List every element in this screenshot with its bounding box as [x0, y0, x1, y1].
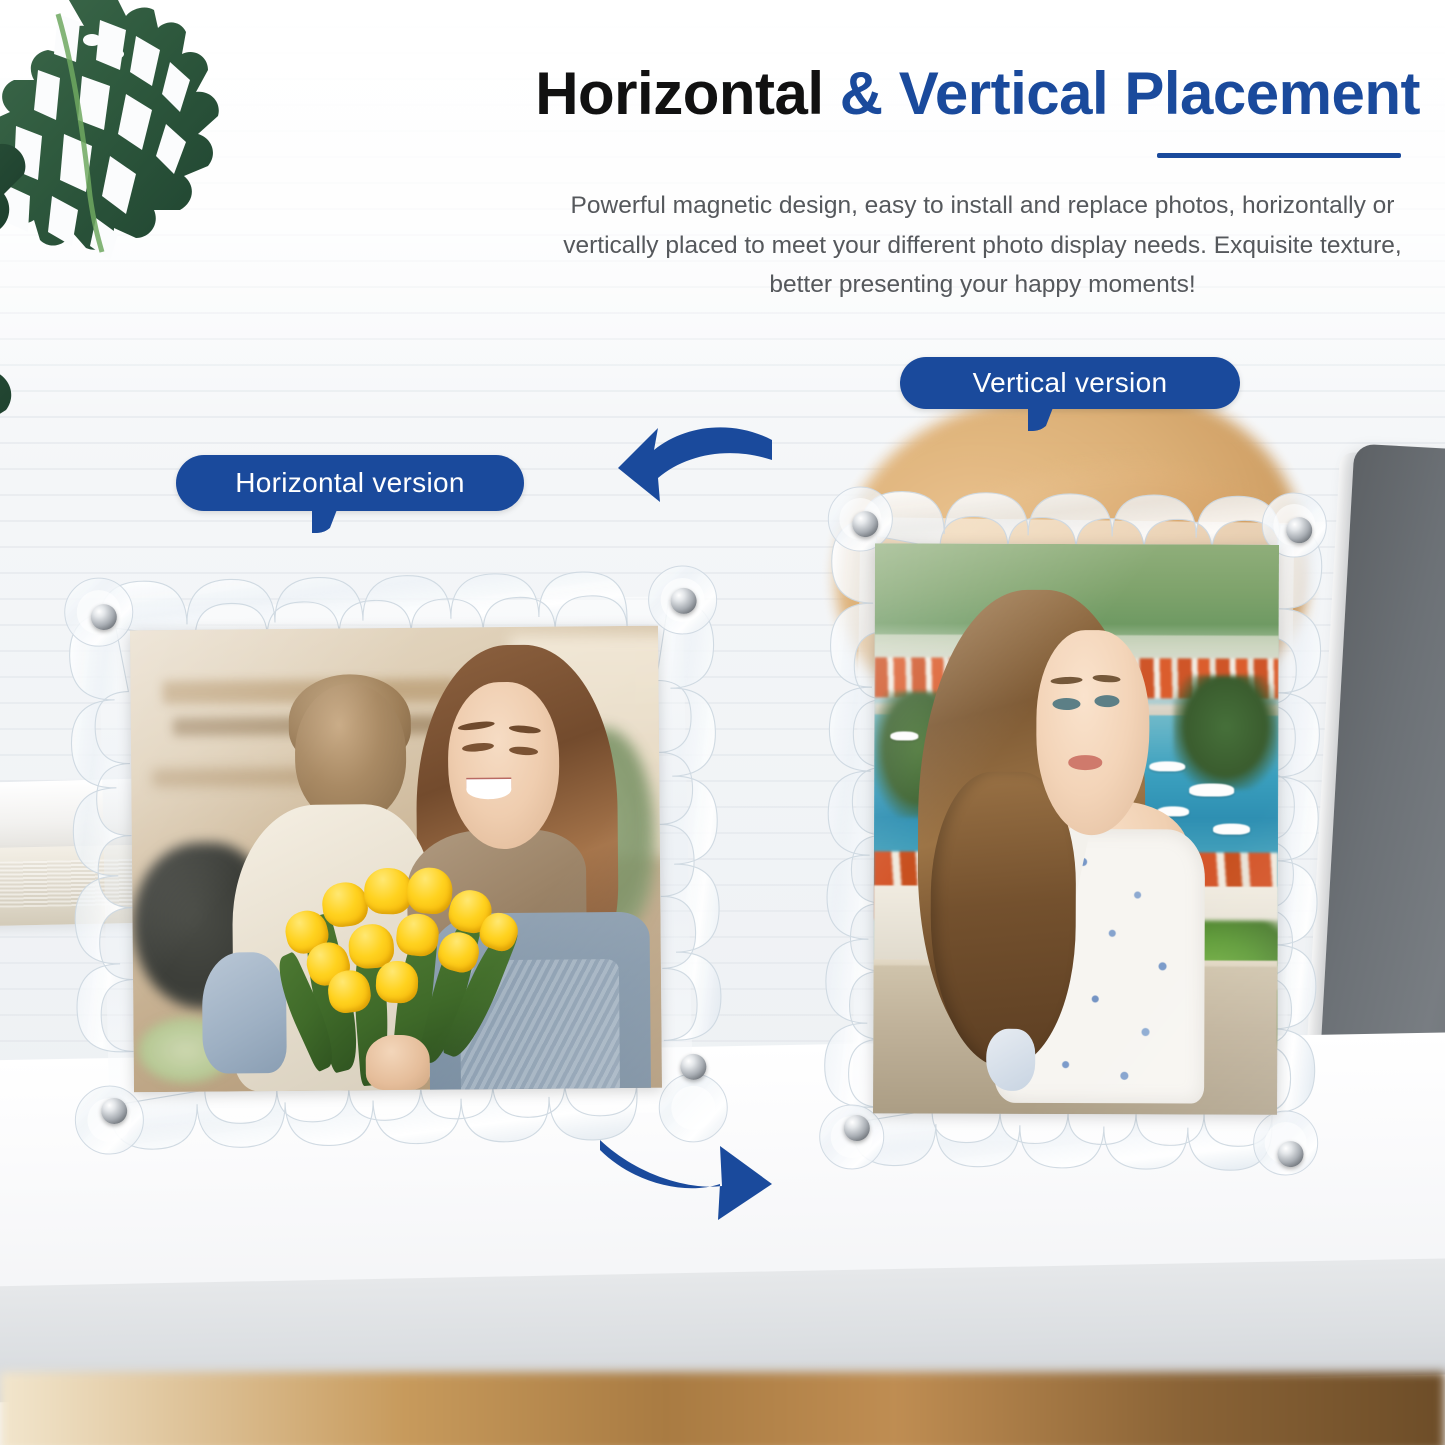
product-feature-image: Horizontal & Vertical Placement Powerful… [0, 0, 1445, 1445]
horizontal-frame[interactable] [52, 553, 740, 1167]
badge-vertical-label: Vertical version [973, 367, 1168, 399]
page-title: Horizontal & Vertical Placement [300, 62, 1420, 127]
woman-face [1036, 629, 1150, 835]
woman-eye-left [1052, 698, 1080, 710]
skirt-bow [986, 1028, 1035, 1091]
kitchen-scene [130, 626, 662, 1093]
woman-lips [1068, 755, 1102, 770]
badge-horizontal-label: Horizontal version [235, 467, 465, 499]
boat [890, 731, 918, 740]
title-underline-rule [1157, 153, 1401, 158]
wooden-floor [0, 1372, 1445, 1445]
boat [1189, 784, 1233, 797]
woman-face [447, 682, 559, 849]
badge-horizontal-version[interactable]: Horizontal version [176, 455, 524, 511]
title-blue-part: & Vertical Placement [840, 60, 1420, 127]
tulip-flower [375, 960, 419, 1003]
badge-vertical-version[interactable]: Vertical version [900, 357, 1240, 409]
tulip-flower [405, 866, 453, 916]
child-sleeve [201, 952, 287, 1073]
hand-holding-bouquet [366, 1034, 430, 1090]
boat [1213, 824, 1249, 835]
child-head [294, 683, 406, 823]
page-subtitle: Powerful magnetic design, easy to instal… [545, 186, 1420, 305]
mediterranean-scene [873, 543, 1279, 1114]
title-black-part: Horizontal [535, 60, 840, 127]
vertical-photo[interactable] [873, 543, 1279, 1114]
horizontal-photo[interactable] [130, 626, 662, 1093]
curved-arrow-right-icon [598, 1136, 774, 1228]
trees-right [1173, 675, 1278, 789]
vertical-frame[interactable] [807, 474, 1339, 1187]
curved-arrow-down-left-icon [614, 416, 774, 512]
boat [1149, 761, 1185, 772]
tulip-flower [364, 868, 413, 915]
